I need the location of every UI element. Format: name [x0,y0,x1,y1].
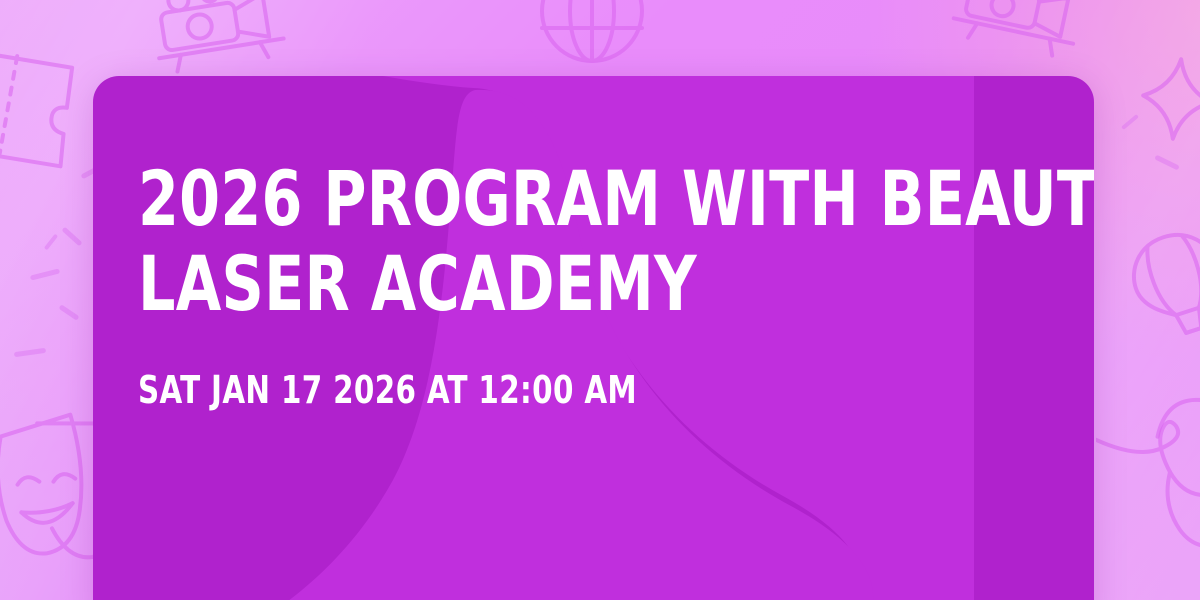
event-card[interactable]: 2026 Program With Beauty Laser Academy S… [93,76,1094,600]
title-line-1: 2026 Program With Beauty [138,156,843,241]
title-line-2: Laser Academy [138,241,843,326]
event-datetime: Sat Jan 17 2026 at 12:00 AM [138,370,926,412]
card-content: 2026 Program With Beauty Laser Academy S… [138,76,1054,600]
event-banner: 2026 Program With Beauty Laser Academy S… [0,0,1200,600]
page-title: 2026 Program With Beauty Laser Academy [138,156,843,326]
